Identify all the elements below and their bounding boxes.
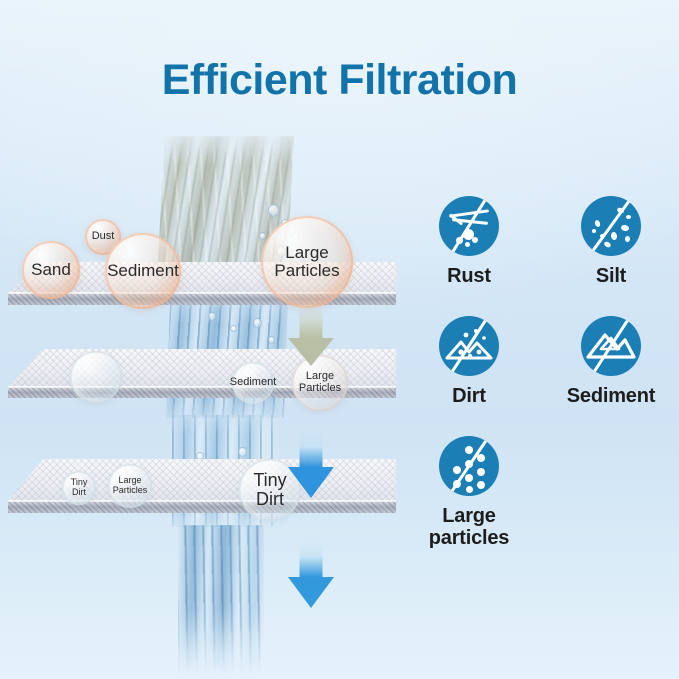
icon-cell-rust[interactable]: Rust — [404, 196, 534, 287]
particle-bubble-label: Dust — [92, 231, 115, 243]
particle-bubble-label: Sand — [31, 261, 71, 279]
particle-bubble: LargeParticles — [261, 216, 353, 308]
filter-layer-3-edge — [8, 501, 396, 513]
icon-cell-silt[interactable]: Silt — [546, 196, 676, 287]
rust-icon-label: Rust — [404, 265, 534, 287]
particle-bubble-label: Sediment — [107, 262, 179, 280]
particle-bubble: Sediment — [105, 233, 181, 309]
dirt-icon — [439, 316, 499, 376]
silt-icon — [581, 196, 641, 256]
arrow-contaminated-shaft — [300, 304, 323, 338]
rust-icon — [439, 196, 499, 256]
arrow-contaminated-head — [288, 338, 334, 366]
icon-cell-sediment[interactable]: Sediment — [546, 316, 676, 407]
arrow-filtered-1-head — [288, 467, 334, 498]
particle-bubble: Sand — [22, 241, 80, 299]
page-title: Efficient Filtration — [0, 56, 679, 105]
particle-bubble: LargeParticles — [108, 464, 152, 508]
particle-bubble: TinyDirt — [62, 471, 96, 505]
clean-water-stream — [178, 525, 264, 675]
large-particles-icon-label: Largeparticles — [404, 505, 534, 550]
arrow-filtered-2-shaft — [300, 540, 323, 577]
particle-bubble-label: Sediment — [230, 377, 276, 389]
particle-bubble-label: LargeParticles — [113, 476, 148, 495]
arrow-filtered-2-head — [288, 577, 334, 608]
particle-bubble-label: TinyDirt — [253, 471, 286, 510]
dirt-icon-label: Dirt — [404, 385, 534, 407]
arrow-filtered-2 — [288, 540, 334, 608]
arrow-contaminated — [288, 304, 334, 366]
arrow-filtered-1 — [288, 430, 334, 498]
particle-bubble — [70, 351, 122, 403]
arrow-filtered-1-shaft — [300, 430, 323, 467]
icon-cell-dirt[interactable]: Dirt — [404, 316, 534, 407]
silt-icon-label: Silt — [546, 265, 676, 287]
particle-bubble-label: LargeParticles — [299, 371, 341, 395]
icon-cell-large-particles[interactable]: Largeparticles — [404, 436, 534, 550]
sediment-icon-label: Sediment — [546, 385, 676, 407]
particle-bubble: Sediment — [232, 362, 274, 404]
particle-bubble-label: TinyDirt — [71, 478, 88, 497]
sediment-icon — [581, 316, 641, 376]
particle-bubble-label: LargeParticles — [274, 244, 339, 281]
filtration-infographic: Efficient Filtration SandDustSedimentL — [0, 0, 679, 679]
large-particles-icon — [439, 436, 499, 496]
